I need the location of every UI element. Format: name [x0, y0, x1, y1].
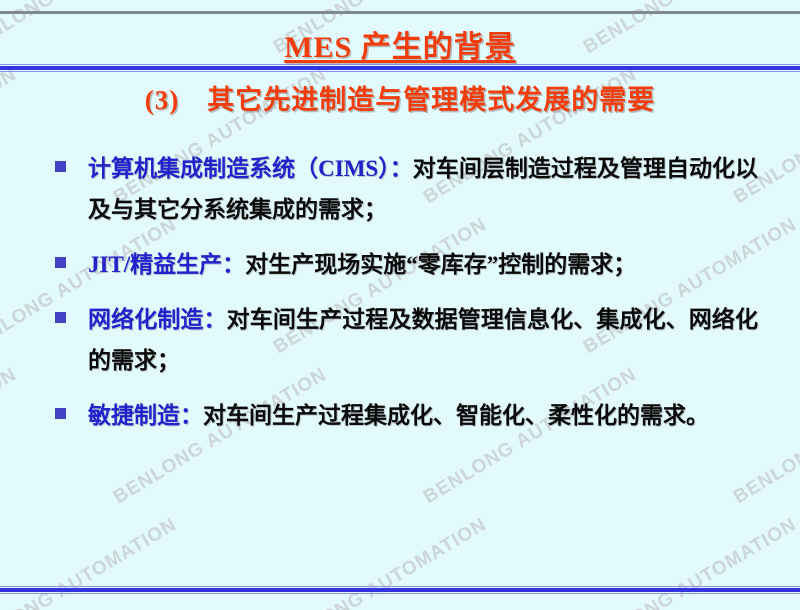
square-bullet-icon	[55, 408, 66, 419]
square-bullet-icon	[55, 161, 66, 172]
subtitle-block: (3) 其它先进制造与管理模式发展的需要	[0, 78, 800, 117]
list-item-body: 对车间生产过程集成化、智能化、柔性化的需求。	[203, 403, 709, 428]
watermark-text: BENLONG AUTOMATION	[0, 514, 181, 610]
list-item: JIT/精益生产：对生产现场实施“零库存”控制的需求；	[0, 244, 800, 285]
bottom-divider-rule	[0, 586, 800, 594]
top-divider-rule	[0, 11, 800, 14]
square-bullet-icon	[55, 257, 66, 268]
list-item-lead: 计算机集成制造系统（CIMS）：	[88, 156, 413, 181]
list-item-lead: JIT/精益生产：	[88, 252, 245, 277]
rule-band-bottom	[0, 593, 800, 594]
rule-band-bottom	[0, 71, 800, 72]
list-item: 计算机集成制造系统（CIMS）：对车间层制造过程及管理自动化以及与其它分系统集成…	[0, 148, 800, 230]
list-item-text: 计算机集成制造系统（CIMS）：对车间层制造过程及管理自动化以及与其它分系统集成…	[88, 148, 758, 230]
square-bullet-icon	[55, 312, 66, 323]
list-item: 网络化制造：对车间生产过程及数据管理信息化、集成化、网络化的需求；	[0, 299, 800, 381]
list-item: 敏捷制造：对车间生产过程集成化、智能化、柔性化的需求。	[0, 395, 800, 436]
rule-band-top	[0, 586, 800, 587]
list-item-lead: 网络化制造：	[88, 307, 227, 332]
list-item-lead: 敏捷制造：	[88, 403, 203, 428]
watermark-text: BENLONG AUTOMATION	[270, 514, 491, 610]
list-item-text: 敏捷制造：对车间生产过程集成化、智能化、柔性化的需求。	[88, 395, 758, 436]
title-block: MES 产生的背景	[0, 22, 800, 66]
list-item-text: 网络化制造：对车间生产过程及数据管理信息化、集成化、网络化的需求；	[88, 299, 758, 381]
slide-canvas: BENLONG AUTOMATIONBENLONG AUTOMATIONBENL…	[0, 0, 800, 610]
rule-band-inner	[0, 588, 800, 592]
rule-band-inner	[0, 66, 800, 70]
page-title: MES 产生的背景	[284, 22, 516, 66]
page-subtitle: (3) 其它先进制造与管理模式发展的需要	[145, 78, 655, 117]
list-item-body: 对生产现场实施“零库存”控制的需求；	[245, 252, 636, 277]
list-item-text: JIT/精益生产：对生产现场实施“零库存”控制的需求；	[88, 244, 758, 285]
bullet-list: 计算机集成制造系统（CIMS）：对车间层制造过程及管理自动化以及与其它分系统集成…	[0, 148, 800, 450]
watermark-text: BENLONG AUTOMATION	[580, 514, 800, 610]
